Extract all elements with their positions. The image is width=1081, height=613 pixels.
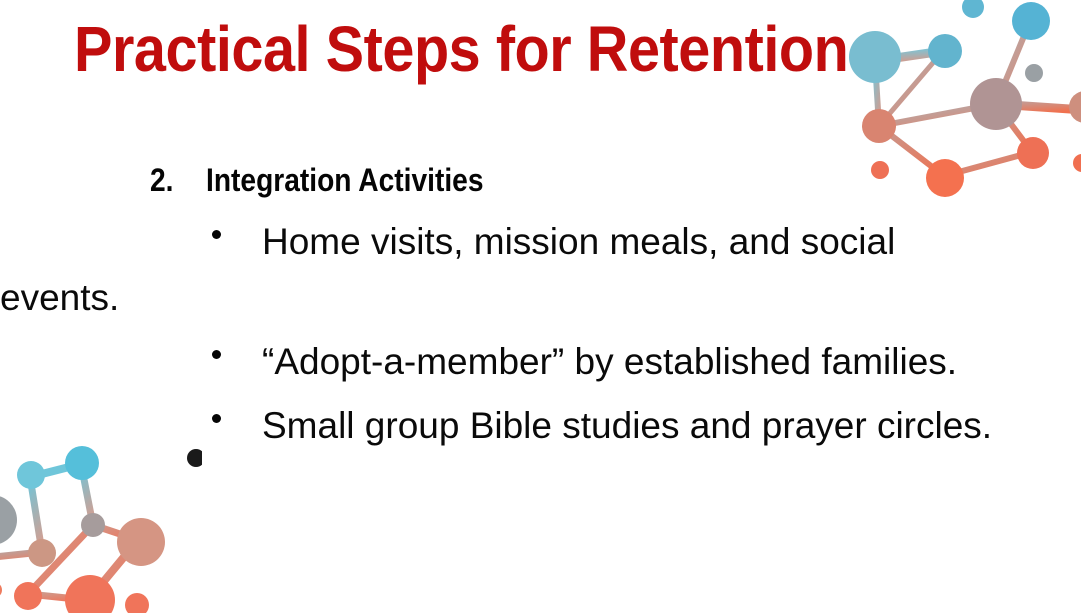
network-node xyxy=(65,575,115,613)
network-node xyxy=(849,31,901,83)
slide-title: Practical Steps for Retention xyxy=(74,16,848,83)
network-node xyxy=(1073,154,1081,172)
network-node xyxy=(970,78,1022,130)
bullet-list: Home visits, mission meals, and social e… xyxy=(0,214,1000,454)
network-node xyxy=(117,518,165,566)
network-node xyxy=(1017,137,1049,169)
bullet-dot-icon xyxy=(212,350,221,359)
network-node xyxy=(17,461,45,489)
network-node xyxy=(928,34,962,68)
network-node xyxy=(1069,91,1081,123)
network-node xyxy=(0,495,17,545)
network-node xyxy=(14,582,42,610)
bullet-text: Home visits, mission meals, and social e… xyxy=(0,221,895,318)
network-node xyxy=(1025,64,1043,82)
list-number: 2. xyxy=(150,160,173,200)
network-node xyxy=(125,593,149,613)
list-item: Home visits, mission meals, and social e… xyxy=(0,214,1000,326)
slide-canvas: Practical Steps for Retention 2. Integra… xyxy=(0,0,1081,613)
network-node xyxy=(0,582,2,598)
list-heading: Integration Activities xyxy=(206,160,483,200)
bullet-dot-icon xyxy=(212,230,221,239)
network-node xyxy=(862,109,896,143)
slide-body: 2. Integration Activities Home visits, m… xyxy=(0,160,1000,462)
numbered-list-item-2: 2. Integration Activities xyxy=(0,160,1000,200)
network-node xyxy=(1012,2,1050,40)
list-item: Small group Bible studies and prayer cir… xyxy=(0,398,1000,454)
network-node xyxy=(28,539,56,567)
list-item: “Adopt-a-member” by established families… xyxy=(0,334,1000,390)
bullet-text: “Adopt-a-member” by established families… xyxy=(262,341,957,382)
network-node xyxy=(81,513,105,537)
bullet-dot-icon xyxy=(212,414,221,423)
network-node xyxy=(962,0,984,18)
bullet-text: Small group Bible studies and prayer cir… xyxy=(262,405,992,446)
